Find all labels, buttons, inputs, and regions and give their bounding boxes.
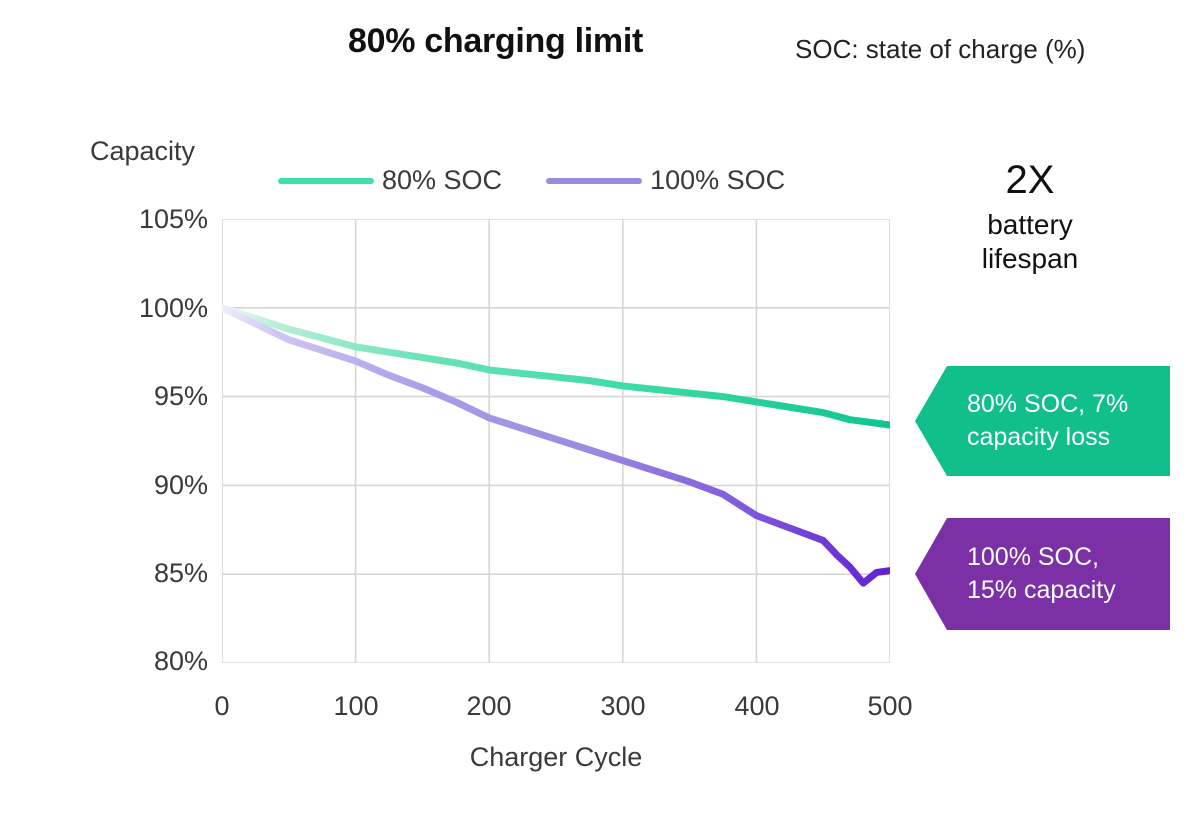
- purple-callout: 100% SOC, 15% capacity: [915, 518, 1170, 630]
- x-tick-200: 200: [429, 691, 549, 722]
- legend-item-80-soc[interactable]: 80% SOC: [278, 165, 502, 196]
- purple-callout-line1: 100% SOC,: [967, 541, 1158, 575]
- series-line-80-soc: [222, 308, 890, 425]
- legend-label-80-soc: 80% SOC: [382, 165, 502, 196]
- x-axis-title: Charger Cycle: [222, 742, 890, 773]
- x-tick-300: 300: [563, 691, 683, 722]
- y-tick-95: 95%: [88, 381, 208, 412]
- chart-svg: [222, 219, 890, 663]
- y-tick-80: 80%: [88, 646, 208, 677]
- highlight-caption-line1: battery: [930, 208, 1130, 242]
- y-tick-85: 85%: [88, 558, 208, 589]
- highlight-caption: battery lifespan: [930, 208, 1130, 276]
- purple-callout-line2: 15% capacity: [967, 574, 1158, 608]
- highlight-value: 2X: [930, 158, 1130, 202]
- highlight-caption-line2: lifespan: [930, 242, 1130, 276]
- x-tick-400: 400: [697, 691, 817, 722]
- y-tick-90: 90%: [88, 470, 208, 501]
- green-callout-line1: 80% SOC, 7%: [967, 388, 1158, 422]
- legend-label-100-soc: 100% SOC: [650, 165, 785, 196]
- y-tick-105: 105%: [88, 204, 208, 235]
- green-callout-line2: capacity loss: [967, 421, 1158, 455]
- y-axis-title: Capacity: [90, 136, 195, 167]
- page-subtitle: SOC: state of charge (%): [795, 34, 1085, 65]
- chart-plot-area: [222, 219, 890, 663]
- series-line-100-soc: [222, 308, 890, 583]
- x-tick-100: 100: [296, 691, 416, 722]
- green-callout: 80% SOC, 7% capacity loss: [915, 366, 1170, 476]
- legend-item-100-soc[interactable]: 100% SOC: [546, 165, 785, 196]
- legend-swatch-80-soc: [278, 178, 374, 184]
- page-title: 80% charging limit: [348, 22, 748, 61]
- x-tick-0: 0: [162, 691, 282, 722]
- y-tick-100: 100%: [88, 293, 208, 324]
- highlight-callout: 2X battery lifespan: [930, 158, 1130, 276]
- chart-legend: 80% SOC 100% SOC: [278, 165, 785, 196]
- x-tick-500: 500: [830, 691, 950, 722]
- legend-swatch-100-soc: [546, 178, 642, 184]
